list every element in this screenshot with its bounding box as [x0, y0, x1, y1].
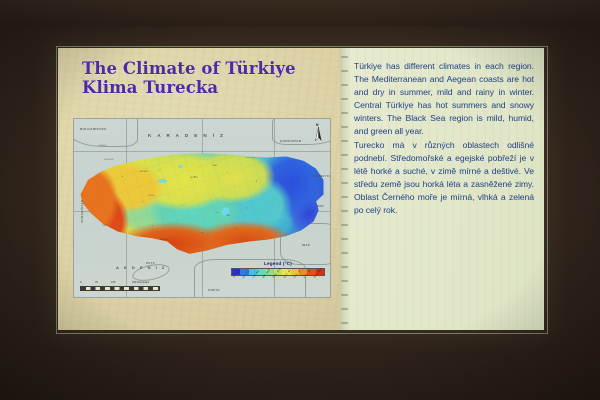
- north-arrow-icon: [313, 127, 324, 143]
- title-line-english: The Climate of Türkiye: [82, 60, 328, 79]
- country-label-greece: YUNANİSTAN: [80, 199, 84, 223]
- lake-small: [178, 165, 183, 168]
- province-label: ANKARA: [140, 171, 148, 173]
- map-scale-bar: 0 75 150 300 Kilometers: [80, 281, 166, 291]
- sea-label-mediterranean: A K D E N İ Z: [116, 265, 166, 270]
- notebook-spiral-binding: [340, 48, 350, 330]
- compass-rose: N: [313, 123, 324, 143]
- notes-text-body: Türkiye has different climates in each r…: [354, 60, 534, 217]
- province-label: VAN: [226, 215, 230, 217]
- province-label: İSTANBUL: [98, 145, 107, 147]
- legend-tick-labels: -2.6 - 5.3 5.4 - 7.1 7.2 - 8.8 8.9 - 10.…: [231, 276, 325, 292]
- scale-tick: 0: [80, 281, 81, 284]
- country-label-azerbaijan: AZERBEYCAN: [312, 175, 331, 178]
- scale-tick-labels: 0 75 150 300 Kilometers: [80, 281, 166, 286]
- province-label: SİVAS: [212, 165, 217, 167]
- temperature-surface: [78, 143, 326, 255]
- slide-title: The Climate of Türkiye Klima Turecka: [82, 60, 328, 97]
- country-label-syria: SURİYE: [208, 289, 220, 292]
- sea-label-black-sea: K A R A D E N İ Z: [148, 133, 225, 138]
- scale-bar-graphic: [80, 286, 160, 291]
- province-label: ANTALYA: [160, 239, 168, 241]
- province-label: KAYSERİ: [190, 177, 198, 179]
- country-label-iran: İRAN: [316, 205, 324, 208]
- slide-right-panel: Türkiye has different climates in each r…: [340, 48, 544, 330]
- slide-left-panel: The Climate of Türkiye Klima Turecka: [58, 48, 340, 330]
- country-label-cyprus: KKTC: [146, 261, 155, 265]
- paragraph-czech: Turecko má v různých oblastech odlišné p…: [354, 139, 534, 218]
- country-label-georgia: GÜRCİSTAN: [280, 139, 301, 143]
- title-line-czech: Klima Turecka: [82, 79, 328, 98]
- lake-tuz: [158, 179, 167, 183]
- turkiye-landmass: [78, 143, 326, 255]
- province-label: İZMİR: [102, 225, 107, 227]
- province-label: ESKİŞEHİR: [104, 159, 114, 161]
- scale-tick-kilometers: 300 Kilometers: [132, 281, 149, 284]
- map-legend: Legend (°C) -2.6 - 5.3 5.4 - 7.1: [231, 261, 325, 292]
- projected-slide: The Climate of Türkiye Klima Turecka: [58, 48, 544, 330]
- paragraph-english: Türkiye has different climates in each r…: [354, 60, 534, 139]
- wall-upper-band: [0, 0, 600, 26]
- scale-tick: 75: [95, 281, 98, 284]
- turkiye-climate-map: K A R A D E N İ Z A K D E N İ Z BULGARİS…: [73, 118, 331, 298]
- country-label-bulgaria: BULGARİSTAN: [80, 127, 106, 131]
- legend-title: Legend (°C): [231, 261, 325, 266]
- country-label-iraq: IRAK: [302, 243, 310, 247]
- scale-tick: 150: [111, 281, 115, 284]
- province-label: ERZURUM: [246, 157, 255, 159]
- province-label: KONYA: [148, 195, 154, 197]
